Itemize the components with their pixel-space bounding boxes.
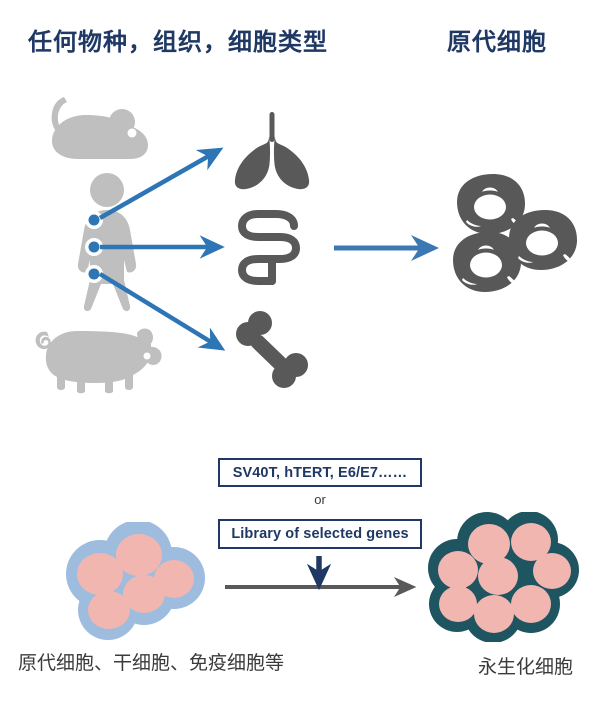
primary-cell-cluster-icon bbox=[56, 522, 216, 640]
lung-icon bbox=[228, 112, 316, 190]
diagram-canvas: 任何物种，组织，细胞类型 原代细胞 bbox=[0, 0, 603, 705]
caption-immortalized-cells: 永生化细胞 bbox=[478, 652, 573, 679]
immortalized-cell-cluster-icon bbox=[427, 512, 585, 642]
caption-primary-cells: 原代细胞、干细胞、免疫细胞等 bbox=[18, 648, 284, 675]
bone-icon bbox=[226, 310, 316, 400]
arrow-to-lung-icon bbox=[100, 153, 214, 218]
arrow-to-bone-icon bbox=[100, 274, 216, 345]
primary-cells-icon bbox=[443, 168, 581, 296]
gene-list-box[interactable]: SV40T, hTERT, E6/E7…… bbox=[218, 458, 422, 487]
or-connector-label: or bbox=[218, 492, 422, 507]
intestine-icon bbox=[232, 210, 312, 288]
gene-library-box[interactable]: Library of selected genes bbox=[218, 519, 422, 549]
